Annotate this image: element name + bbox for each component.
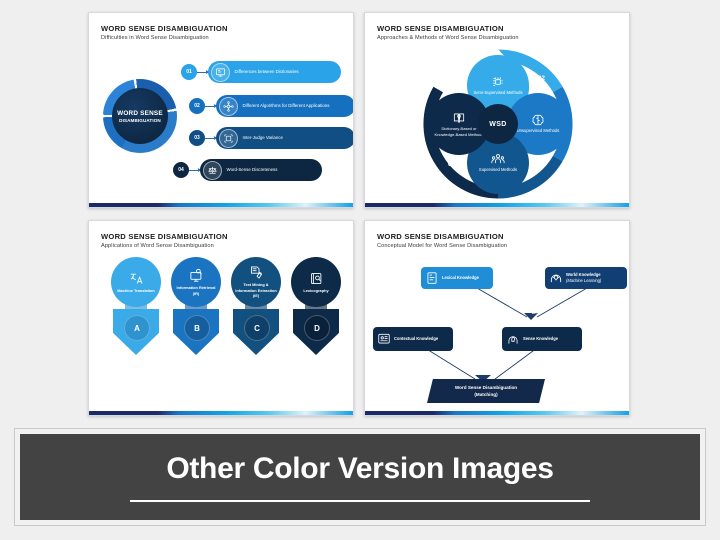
network-brain-icon <box>377 332 391 346</box>
node-lexical-knowledge[interactable]: Lexical Knowledge <box>421 267 493 289</box>
scale-icon <box>219 129 238 148</box>
slide-card-conceptual-model[interactable]: WORD SENSE DISAMBIGUATION Conceptual Mod… <box>364 220 630 416</box>
slide4-title: WORD SENSE DISAMBIGUATION <box>377 232 504 241</box>
monitor-icon <box>211 63 230 82</box>
slide2-subtitle: Approaches & Methods of Word Sense Disam… <box>377 35 519 41</box>
pin-head: Machine Translation <box>111 257 161 307</box>
slide-card-applications[interactable]: WORD SENSE DISAMBIGUATION Applications o… <box>88 220 354 416</box>
head-gear-icon <box>549 271 563 285</box>
difficulty-label-3: Inter-Judge Variance <box>243 135 287 142</box>
difficulty-label-1: Differences between Dictionaries <box>235 69 303 76</box>
slide1-accent-bar <box>89 203 353 207</box>
node-wsd-matching-label: Word Sense Disambiguation (Matching) <box>455 384 517 398</box>
approach-label-3: Supervised Methods <box>479 167 517 173</box>
difficulty-number-1: 01 <box>181 64 197 80</box>
wsd-cycle-diagram: Semi-Supervised Methods Unsupervised Met… <box>423 49 573 199</box>
application-label-d: Lexicography <box>300 288 331 294</box>
application-label-a: Machine Translation <box>114 288 157 294</box>
slide2-accent-bar <box>365 203 629 207</box>
difficulty-pill-1[interactable]: Differences between Dictionaries <box>208 61 341 83</box>
mining-icon <box>249 265 264 280</box>
difficulty-row-3[interactable]: 03 Inter-Judge Variance <box>189 127 349 149</box>
node-lexical-label: Lexical Knowledge <box>442 275 479 281</box>
banner-inner: Other Color Version Images <box>20 434 700 520</box>
approach-number-2: 02 <box>538 75 545 82</box>
pin-head: Information Retrieval (IR) <box>171 257 221 307</box>
application-label-b: Information Retrieval (IR) <box>171 285 221 297</box>
difficulty-number-4: 04 <box>173 162 189 178</box>
banner-title: Other Color Version Images <box>166 452 553 486</box>
difficulty-row-4[interactable]: 04 Word-Sense Discreteness <box>173 159 343 181</box>
application-pin-d[interactable]: Lexicography D <box>291 257 341 377</box>
application-badge-a: A <box>124 315 150 341</box>
banner-divider <box>130 500 590 502</box>
difficulty-pill-2[interactable]: Different Algorithms for Different Appli… <box>216 95 354 117</box>
wsd-center-line2: DISAMBIGUATION <box>119 118 161 123</box>
book-page-icon <box>425 271 439 285</box>
data-chip-icon <box>491 75 505 89</box>
translate-icon <box>129 271 144 286</box>
wsd-center-badge: WSD <box>478 104 518 144</box>
approach-number-1: 01 <box>447 71 454 78</box>
pin-head: Lexicography <box>291 257 341 307</box>
slide1-subtitle: Difficulties in Word Sense Disambiguatio… <box>101 35 209 41</box>
application-pin-c[interactable]: Text Mining & Information Extraction (IE… <box>231 257 281 377</box>
search-doc-icon <box>189 268 204 283</box>
idea-book-icon <box>452 111 466 125</box>
slide-gallery-page: WORD SENSE DISAMBIGUATION Difficulties i… <box>0 0 720 540</box>
wsd-center-ring: WORD SENSE DISAMBIGUATION <box>103 79 177 153</box>
slide4-accent-bar <box>365 411 629 415</box>
difficulty-row-2[interactable]: 02 Different Algorithms for Different Ap… <box>189 95 349 117</box>
node-world-knowledge[interactable]: World Knowledge (Machine Learning) <box>545 267 627 289</box>
application-badge-d: D <box>304 315 330 341</box>
application-badge-b: B <box>184 315 210 341</box>
dictionary-icon <box>309 271 324 286</box>
difficulty-number-2: 02 <box>189 98 205 114</box>
network-icon <box>219 97 238 116</box>
head-bulb-icon <box>506 332 520 346</box>
pin-head: Text Mining & Information Extraction (IE… <box>231 257 281 307</box>
slide1-title: WORD SENSE DISAMBIGUATION <box>101 24 228 33</box>
difficulty-label-2: Different Algorithms for Different Appli… <box>243 103 334 110</box>
difficulty-pill-4[interactable]: Word-Sense Discreteness <box>200 159 322 181</box>
connector-arrow <box>189 170 200 171</box>
application-badge-c: C <box>244 315 270 341</box>
brain-icon <box>531 113 545 127</box>
team-icon <box>491 152 505 166</box>
slide4-subtitle: Conceptual Model for Word Sense Disambig… <box>377 243 507 249</box>
approach-number-3: 03 <box>537 162 544 169</box>
difficulty-number-3: 03 <box>189 130 205 146</box>
node-contextual-label: Contextual Knowledge <box>394 336 438 342</box>
slide3-accent-bar <box>89 411 353 415</box>
application-label-c: Text Mining & Information Extraction (IE… <box>231 282 281 300</box>
wsd-center-line1: WORD SENSE <box>117 110 163 117</box>
node-wsd-matching[interactable]: Word Sense Disambiguation (Matching) <box>427 379 545 403</box>
node-sense-knowledge[interactable]: Sense Knowledge <box>502 327 582 351</box>
difficulty-label-4: Word-Sense Discreteness <box>227 167 282 174</box>
node-sense-label: Sense Knowledge <box>523 336 558 342</box>
balance-icon <box>203 161 222 180</box>
wsd-center-disc: WORD SENSE DISAMBIGUATION <box>112 88 168 144</box>
node-world-label: World Knowledge (Machine Learning) <box>566 272 601 284</box>
application-pin-b[interactable]: Information Retrieval (IR) B <box>171 257 221 377</box>
connector-arrow <box>205 138 216 139</box>
slide-card-approaches[interactable]: WORD SENSE DISAMBIGUATION Approaches & M… <box>364 12 630 208</box>
difficulty-pill-3[interactable]: Inter-Judge Variance <box>216 127 354 149</box>
approach-number-4: 04 <box>448 161 455 168</box>
connector-arrow <box>205 106 216 107</box>
slide2-title: WORD SENSE DISAMBIGUATION <box>377 24 504 33</box>
node-contextual-knowledge[interactable]: Contextual Knowledge <box>373 327 453 351</box>
other-color-version-banner: Other Color Version Images <box>14 428 706 526</box>
slide-card-difficulties[interactable]: WORD SENSE DISAMBIGUATION Difficulties i… <box>88 12 354 208</box>
slide3-title: WORD SENSE DISAMBIGUATION <box>101 232 228 241</box>
slide3-subtitle: Applications of Word Sense Disambiguatio… <box>101 243 214 249</box>
application-pin-a[interactable]: Machine Translation A <box>111 257 161 377</box>
connector-arrow <box>197 72 208 73</box>
difficulty-row-1[interactable]: 01 Differences between Dictionaries <box>181 61 341 83</box>
